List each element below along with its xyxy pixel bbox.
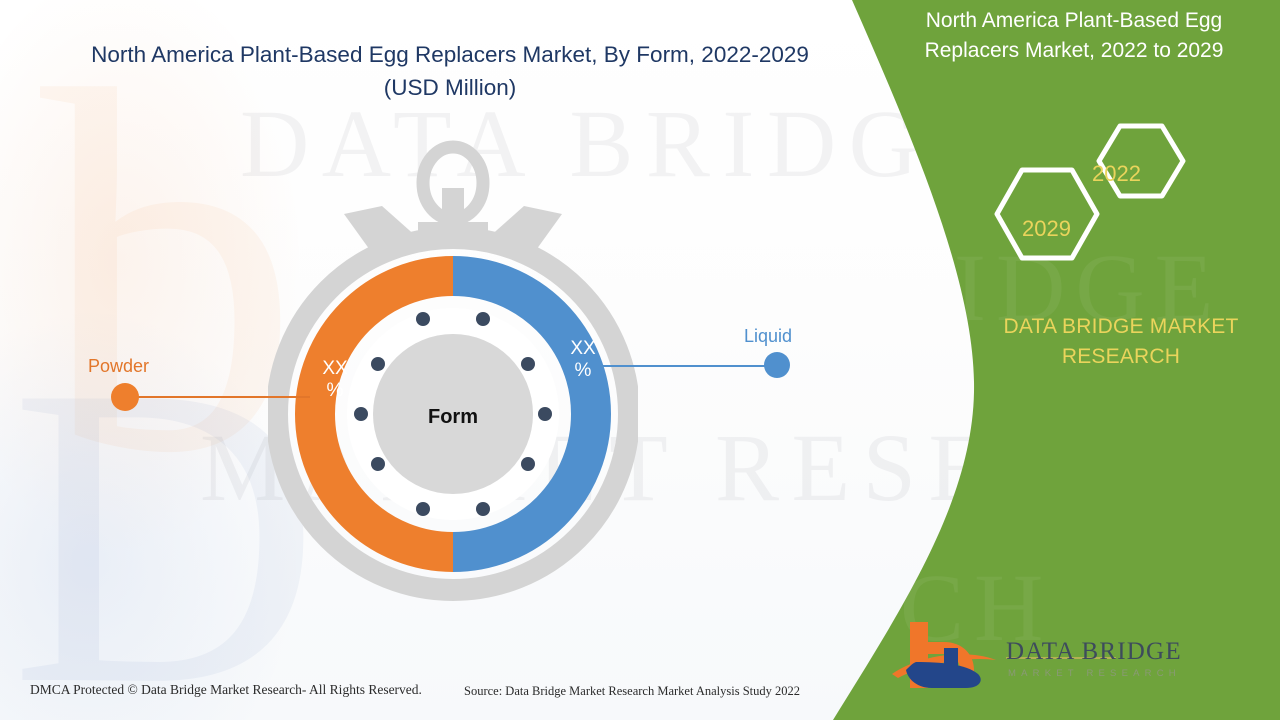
leader-line-powder — [125, 396, 310, 398]
brand-text: DATA BRIDGE MARKET RESEARCH — [975, 312, 1267, 373]
hexagon-label-2029: 2029 — [1022, 216, 1071, 242]
panel-title: North America Plant-Based Egg Replacers … — [888, 6, 1260, 66]
brand-line-1: DATA BRIDGE MARKET — [1003, 315, 1238, 338]
legend-label-liquid: Liquid — [744, 326, 792, 347]
panel-title-line-1: North America Plant-Based Egg — [926, 9, 1222, 32]
donut-chart: Form XX % XX % — [268, 136, 638, 606]
logo-subtitle: MARKET RESEARCH — [1008, 668, 1181, 679]
hexagon-shapes — [980, 108, 1200, 298]
liquid-percent-symbol: % — [575, 360, 592, 381]
hexagon-2029-shape — [997, 170, 1097, 258]
legend-dot-powder — [111, 383, 139, 411]
powder-percent-symbol: % — [327, 380, 344, 401]
page-title: North America Plant-Based Egg Replacers … — [40, 38, 860, 105]
legend-label-powder: Powder — [88, 356, 149, 377]
chart-title-line-1: North America Plant-Based Egg Replacers … — [91, 42, 809, 67]
infographic-canvas: b D DATA BRIDGE MARKET RESEARCH RIDGE CH… — [0, 0, 1280, 720]
footer-dmca-text: DMCA Protected © Data Bridge Market Rese… — [30, 682, 422, 698]
hexagon-badges: 2029 2022 — [980, 108, 1200, 298]
chart-title-line-2: (USD Million) — [384, 75, 517, 100]
panel-title-line-2: Replacers Market, 2022 to 2029 — [925, 39, 1224, 62]
donut-percent-powder: XX % — [308, 358, 362, 403]
legend-dot-liquid — [764, 352, 790, 378]
footer-source-text: Source: Data Bridge Market Research Mark… — [464, 684, 800, 699]
powder-percent-value: XX — [322, 358, 347, 379]
liquid-percent-value: XX — [570, 338, 595, 359]
logo-d-stem — [944, 648, 958, 688]
donut-percent-liquid: XX % — [556, 338, 610, 383]
hexagon-label-2022: 2022 — [1092, 161, 1141, 187]
brand-line-2: RESEARCH — [1062, 345, 1180, 368]
leader-line-liquid — [596, 365, 782, 367]
logo-title: DATA BRIDGE — [1006, 638, 1182, 666]
